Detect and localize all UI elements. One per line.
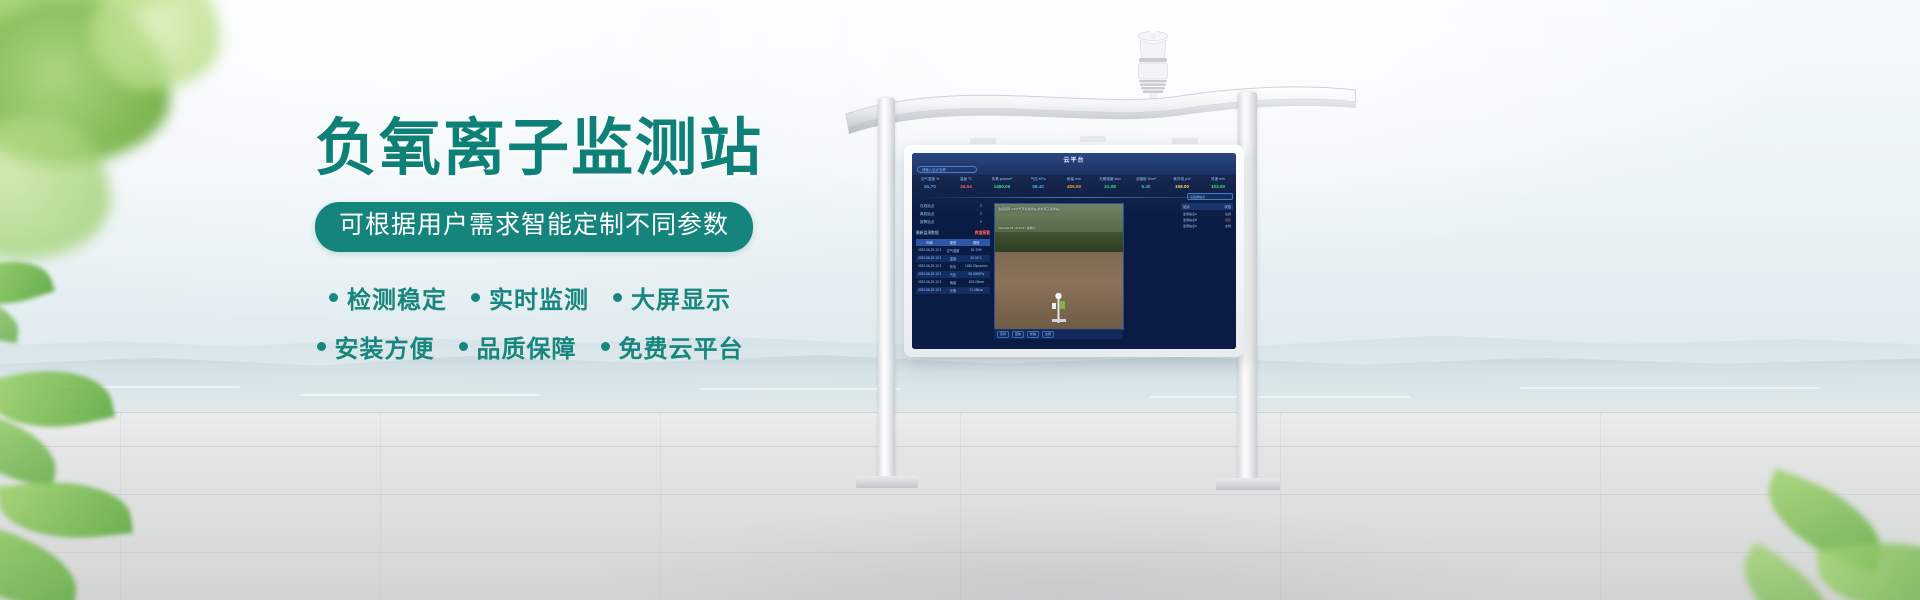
bullet-dot-icon: [471, 293, 480, 302]
station-stats: 在线站点 2 离线站点 2 报警站点 0: [916, 202, 986, 227]
status-name: 监测站点C: [1183, 224, 1197, 228]
cell-value: 61.70%: [965, 248, 988, 253]
metric-card: 雨量 mm 405.00: [1056, 177, 1092, 197]
status-name: 监测站点A: [1183, 212, 1197, 216]
dashboard: 云平台 请输入站点名称 空气湿度 % 61.70 温度 ℃ 26.54 负氧 p…: [912, 153, 1236, 349]
control-chip[interactable]: 全屏: [1042, 331, 1054, 338]
cell-value: 98.400KPa: [965, 272, 988, 277]
feature-label: 免费云平台: [619, 329, 744, 364]
feature-item: 检测稳定: [329, 280, 447, 315]
feature-item: 免费云平台: [601, 329, 744, 364]
display-screen[interactable]: 云平台 请输入站点名称 空气湿度 % 61.70 温度 ℃ 26.54 负氧 p…: [912, 153, 1236, 349]
video-overlay-line-1: 监控名称: XX大气环境监测站(负氧离子监测站): [998, 207, 1060, 211]
metric-value: 61.70: [912, 184, 948, 189]
table-caption-bar: 最新监测数据 数据报警: [916, 231, 990, 236]
cell-value: 1450.00pcs/cm³: [965, 264, 988, 269]
table-row[interactable]: 2023-06-25 10:34:57 空气湿度 61.70%: [916, 247, 990, 254]
stat-row: 报警站点 0: [916, 218, 986, 226]
table-header-row: 时间 类型 数值: [916, 239, 990, 246]
metric-value: 5.40: [1128, 184, 1164, 189]
metric-key: 紫外线 μW: [1164, 177, 1200, 182]
station-status-panel: 站点 状态 监测站点A 在线 监测站点B 报警 监测站点C: [1181, 203, 1233, 230]
promo-banner: 负氧离子监测站 可根据用户需求智能定制不同参数 检测稳定 实时监测 大屏显示: [0, 0, 1920, 600]
feature-item: 安装方便: [317, 329, 435, 364]
metric-key: 雨量 mm: [1056, 177, 1092, 182]
feature-row-2: 安装方便 品质保障 免费云平台: [315, 329, 745, 364]
metric-key: 光照强度 klux: [1092, 177, 1128, 182]
metric-value: 98.40: [1020, 184, 1056, 189]
base-plate-right: [1216, 478, 1280, 490]
monitoring-station: 云平台 请输入站点名称 空气湿度 % 61.70 温度 ℃ 26.54 负氧 p…: [820, 20, 1380, 540]
metric-value: 405.00: [1056, 184, 1092, 189]
cell-type: 负氧: [941, 264, 964, 269]
metric-key: 负氧 pcs/cm³: [984, 177, 1020, 182]
metric-card: 光照强度 klux 21.08: [1092, 177, 1128, 197]
status-col-name: 站点: [1183, 204, 1190, 209]
canopy-roof: [840, 80, 1360, 142]
video-overlay-line-2: 2023-06-25 10:34:57 星期日: [998, 226, 1036, 230]
feature-item: 品质保障: [459, 329, 577, 364]
table-column-header: 类型: [941, 240, 964, 245]
metric-value: 158.00: [1164, 184, 1200, 189]
cell-time: 2023-06-25 10:34:57: [918, 280, 941, 285]
bullet-dot-icon: [317, 342, 326, 351]
cell-type: 雨量: [941, 280, 964, 285]
feature-label: 安装方便: [335, 329, 435, 364]
metric-key: 气压 KPa: [1020, 177, 1056, 182]
station-search-input[interactable]: 请输入站点名称: [917, 166, 977, 173]
screen-mount-top-right: [1172, 138, 1198, 144]
table-row[interactable]: 2023-06-25 10:34:57 温度 26.54℃: [916, 255, 990, 262]
cell-type: 光照: [941, 288, 964, 293]
stat-value: 2: [980, 204, 982, 209]
status-state: 在线: [1225, 212, 1231, 216]
stat-row: 在线站点 2: [916, 202, 986, 210]
cell-type: 温度: [941, 256, 964, 261]
base-plate-left: [856, 476, 918, 488]
table-row[interactable]: 2023-06-25 10:34:57 气压 98.400KPa: [916, 271, 990, 278]
metric-key: 温度 ℃: [948, 177, 984, 182]
table-row[interactable]: 2023-06-25 10:34:57 雨量 405.00mm: [916, 279, 990, 286]
cell-value: 26.54℃: [965, 256, 988, 261]
metric-card: 气压 KPa 98.40: [1020, 177, 1056, 197]
metric-value: 21.08: [1092, 184, 1128, 189]
metric-card: 总辐射 W/m² 5.40: [1128, 177, 1164, 197]
status-panel-header: 站点 状态: [1181, 203, 1233, 210]
page-title: 负氧离子监测站: [315, 118, 745, 180]
cell-value: 21.08klux: [965, 288, 988, 293]
feature-item: 实时监测: [471, 280, 589, 315]
live-video-feed[interactable]: 监控名称: XX大气环境监测站(负氧离子监测站) 2023-06-25 10:3…: [994, 203, 1124, 330]
copy-block: 负氧离子监测站 可根据用户需求智能定制不同参数 检测稳定 实时监测 大屏显示: [315, 118, 745, 378]
metric-key: 总辐射 W/m²: [1128, 177, 1164, 182]
control-chip[interactable]: 抓拍: [1027, 331, 1039, 338]
feature-label: 大屏显示: [631, 280, 731, 315]
feature-row-1: 检测稳定 实时监测 大屏显示: [315, 280, 745, 315]
table-row[interactable]: 2023-06-25 10:34:57 负氧 1450.00pcs/cm³: [916, 263, 990, 270]
control-chip[interactable]: 实时: [997, 331, 1009, 338]
feature-item: 大屏显示: [613, 280, 731, 315]
metric-value: 1450.00: [984, 184, 1020, 189]
bullet-dot-icon: [613, 293, 622, 302]
station-selector-dropdown[interactable]: 请选择站点: [1187, 193, 1233, 200]
feature-label: 实时监测: [489, 280, 589, 315]
feature-list: 检测稳定 实时监测 大屏显示 安装方便 品质保障: [315, 280, 745, 364]
control-chip[interactable]: 回放: [1012, 331, 1024, 338]
status-state: 在线: [1225, 224, 1231, 228]
table-column-header: 数值: [965, 240, 988, 245]
status-state: 报警: [1225, 218, 1231, 222]
metric-key: 空气湿度 %: [912, 177, 948, 182]
cell-time: 2023-06-25 10:34:57: [918, 264, 941, 269]
status-col-state: 状态: [1224, 204, 1231, 209]
stat-label: 报警站点: [920, 220, 934, 225]
stat-value: 0: [980, 220, 982, 225]
video-control-bar: 实时 回放 抓拍 全屏: [994, 329, 1122, 339]
table-column-header: 时间: [918, 240, 941, 245]
cell-value: 405.00mm: [965, 280, 988, 285]
metric-key: 风速 m/s: [1200, 177, 1236, 182]
support-post-left: [878, 98, 895, 480]
stat-label: 在线站点: [920, 204, 934, 209]
status-name: 监测站点B: [1183, 218, 1197, 222]
status-panel-row[interactable]: 监测站点C 在线: [1181, 223, 1233, 229]
screen-mount-top-left: [970, 138, 996, 144]
metric-value: 103.00: [1200, 184, 1236, 189]
table-alert-label: 数据报警: [975, 231, 990, 236]
metric-card: 空气湿度 % 61.70: [912, 177, 948, 197]
metric-value: 26.54: [948, 184, 984, 189]
cell-type: 气压: [941, 272, 964, 277]
table-caption: 最新监测数据: [916, 231, 939, 236]
cell-time: 2023-06-25 10:34:57: [918, 272, 941, 277]
feature-label: 品质保障: [477, 329, 577, 364]
bullet-dot-icon: [601, 342, 610, 351]
bullet-dot-icon: [329, 293, 338, 302]
metric-card: 温度 ℃ 26.54: [948, 177, 984, 197]
video-station-equipment: [1051, 291, 1067, 325]
cell-time: 2023-06-25 10:34:57: [918, 288, 941, 293]
bullet-dot-icon: [459, 342, 468, 351]
cell-type: 空气湿度: [941, 248, 964, 253]
table-row[interactable]: 2023-06-25 10:34:57 光照 21.08klux: [916, 287, 990, 294]
feature-label: 检测稳定: [347, 280, 447, 315]
metric-card: 负氧 pcs/cm³ 1450.00: [984, 177, 1020, 197]
subtitle-badge: 可根据用户需求智能定制不同参数: [315, 202, 753, 252]
dashboard-divider: [918, 197, 1229, 198]
stat-label: 离线站点: [920, 212, 934, 217]
screen-mount-top-mid: [1080, 136, 1106, 142]
cell-time: 2023-06-25 10:34:57: [918, 248, 941, 253]
cell-time: 2023-06-25 10:34:57: [918, 256, 941, 261]
stat-value: 2: [980, 212, 982, 217]
dashboard-title: 云平台: [912, 155, 1236, 164]
display-enclosure: 云平台 请输入站点名称 空气湿度 % 61.70 温度 ℃ 26.54 负氧 p…: [904, 145, 1244, 357]
stat-row: 离线站点 2: [916, 210, 986, 218]
